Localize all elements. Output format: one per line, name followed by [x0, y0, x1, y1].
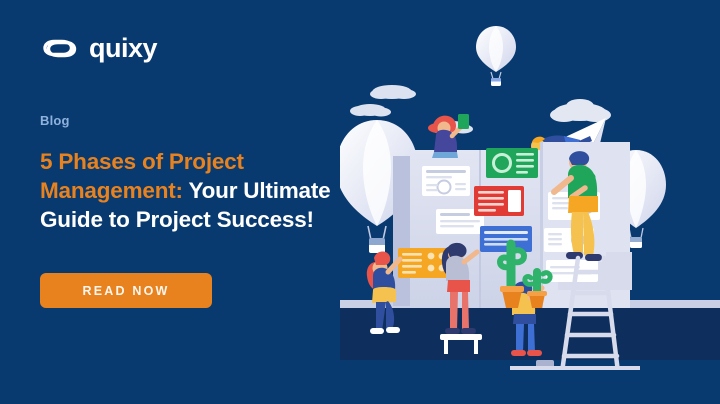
category-eyebrow: Blog: [40, 113, 360, 128]
brand-logo[interactable]: quixy: [40, 28, 360, 68]
page-title: 5 Phases of Project Management: Your Ult…: [40, 147, 340, 234]
blog-promo-banner: quixy Blog 5 Phases of Project Managemen…: [0, 0, 720, 404]
brand-name: quixy: [89, 33, 157, 63]
read-now-button[interactable]: READ NOW: [40, 273, 212, 308]
card-green: [486, 148, 538, 178]
card-white-top: [422, 166, 470, 196]
content-column: quixy Blog 5 Phases of Project Managemen…: [40, 28, 360, 358]
project-management-board-illustration: [340, 0, 720, 404]
infinity-link-icon: [40, 33, 80, 63]
card-red: [474, 186, 524, 216]
